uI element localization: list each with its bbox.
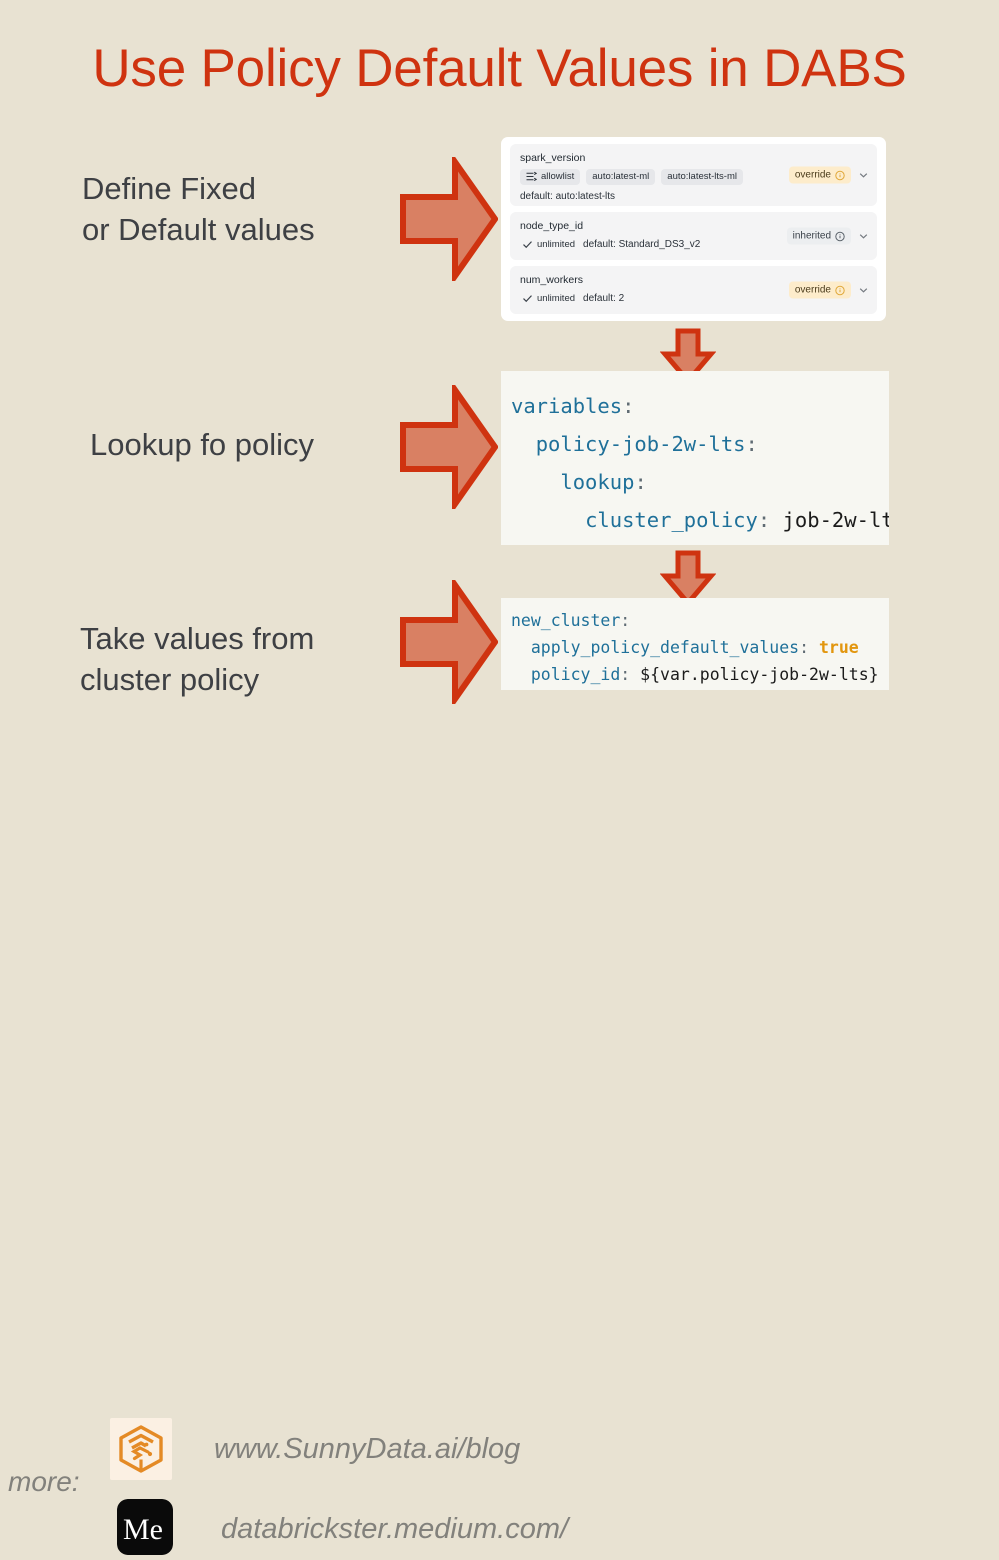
yaml-colon: : xyxy=(634,470,646,494)
footer-link-label: databrickster.medium.com/ xyxy=(221,1513,568,1546)
yaml-indent xyxy=(511,508,585,532)
policy-status-area: override xyxy=(789,167,869,184)
page-title: Use Policy Default Values in DABS xyxy=(0,38,999,99)
yaml-indent xyxy=(511,638,531,657)
policy-default-text: default: auto:latest-lts xyxy=(520,190,867,203)
yaml-line: apply_policy_default_values: true xyxy=(511,634,889,661)
yaml-value: job-2w-lts xyxy=(783,508,889,532)
check-icon xyxy=(522,293,533,304)
yaml-line: policy-job-2w-lts: xyxy=(511,425,889,463)
step-label-define: Define Fixed or Default values xyxy=(82,168,315,250)
yaml-indent xyxy=(511,432,536,456)
yaml-key: lookup xyxy=(560,470,634,494)
medium-logo: Me xyxy=(117,1499,173,1560)
yaml-key: apply_policy_default_values xyxy=(531,638,799,657)
yaml-indent xyxy=(511,470,560,494)
policy-status-area: override xyxy=(789,282,869,299)
yaml-line: variables: xyxy=(511,387,889,425)
step-label-apply: Take values from cluster policy xyxy=(80,618,314,700)
footer-link-medium[interactable]: Me databrickster.medium.com/ xyxy=(117,1499,568,1560)
yaml-key: variables xyxy=(511,394,622,418)
policy-chip-label: auto:latest-lts-ml xyxy=(667,171,737,183)
yaml-colon: : xyxy=(799,638,819,657)
policy-default-text: default: Standard_DS3_v2 xyxy=(583,239,700,250)
yaml-colon: : xyxy=(758,508,783,532)
yaml-key: policy_id xyxy=(531,665,620,684)
policy-row[interactable]: spark_version allowlist auto:latest-ml a… xyxy=(510,144,877,206)
status-badge-label: inherited xyxy=(793,231,831,242)
yaml-line: new_cluster: xyxy=(511,607,889,634)
footer-link-sunnydata[interactable]: www.SunnyData.ai/blog xyxy=(110,1418,520,1480)
status-badge[interactable]: override xyxy=(789,282,851,299)
yaml-line: cluster_policy: job-2w-lts xyxy=(511,501,889,539)
yaml-colon: : xyxy=(746,432,758,456)
info-icon[interactable] xyxy=(835,170,845,180)
info-icon[interactable] xyxy=(835,231,845,241)
policy-row[interactable]: node_type_id unlimited default: Standard… xyxy=(510,212,877,260)
cluster-policy-card: spark_version allowlist auto:latest-ml a… xyxy=(501,137,886,321)
info-icon[interactable] xyxy=(835,285,845,295)
chevron-down-icon[interactable] xyxy=(858,170,869,181)
check-icon xyxy=(522,239,533,250)
footer-link-label: www.SunnyData.ai/blog xyxy=(214,1433,520,1466)
policy-chip-unlimited[interactable]: unlimited xyxy=(520,237,577,253)
chevron-down-icon[interactable] xyxy=(858,285,869,296)
yaml-key: new_cluster xyxy=(511,611,620,630)
svg-text:Me: Me xyxy=(123,1513,163,1546)
policy-chip-value[interactable]: auto:latest-ml xyxy=(586,169,655,185)
yaml-colon: : xyxy=(622,394,634,418)
status-badge[interactable]: override xyxy=(789,167,851,184)
yaml-line: policy_id: ${var.policy-job-2w-lts} xyxy=(511,661,889,688)
policy-key: spark_version xyxy=(520,151,867,165)
policy-chip-allowlist[interactable]: allowlist xyxy=(520,169,580,185)
more-label: more: xyxy=(8,1466,80,1498)
policy-chip-label: unlimited xyxy=(537,293,575,305)
arrow-right-icon xyxy=(400,385,498,509)
yaml-colon: : xyxy=(620,665,640,684)
yaml-colon: : xyxy=(620,611,630,630)
status-badge-label: override xyxy=(795,285,831,296)
policy-chip-label: unlimited xyxy=(537,239,575,251)
policy-chip-label: auto:latest-ml xyxy=(592,171,649,183)
yaml-indent xyxy=(511,665,531,684)
policy-status-area: inherited xyxy=(787,228,869,245)
yaml-value: true xyxy=(819,638,859,657)
yaml-value: ${var.policy-job-2w-lts} xyxy=(640,665,878,684)
policy-chip-value[interactable]: auto:latest-lts-ml xyxy=(661,169,743,185)
policy-row[interactable]: num_workers unlimited default: 2 overrid… xyxy=(510,266,877,314)
allowlist-icon xyxy=(526,171,537,182)
chevron-down-icon[interactable] xyxy=(858,231,869,242)
arrow-right-icon xyxy=(400,580,498,704)
status-badge[interactable]: inherited xyxy=(787,228,851,245)
arrow-right-icon xyxy=(400,157,498,281)
policy-chip-unlimited[interactable]: unlimited xyxy=(520,291,577,307)
yaml-line: lookup: xyxy=(511,463,889,501)
yaml-key: policy-job-2w-lts xyxy=(536,432,746,456)
yaml-key: cluster_policy xyxy=(585,508,758,532)
policy-chip-label: allowlist xyxy=(541,171,574,183)
yaml-variables-block: variables: policy-job-2w-lts: lookup: cl… xyxy=(501,371,889,545)
step-label-lookup: Lookup fo policy xyxy=(90,424,314,465)
status-badge-label: override xyxy=(795,170,831,181)
footer: more: www.SunnyData.ai/blog xyxy=(0,706,999,858)
sunnydata-logo xyxy=(110,1418,172,1480)
yaml-new-cluster-block: new_cluster: apply_policy_default_values… xyxy=(501,598,889,690)
policy-default-text: default: 2 xyxy=(583,293,624,304)
